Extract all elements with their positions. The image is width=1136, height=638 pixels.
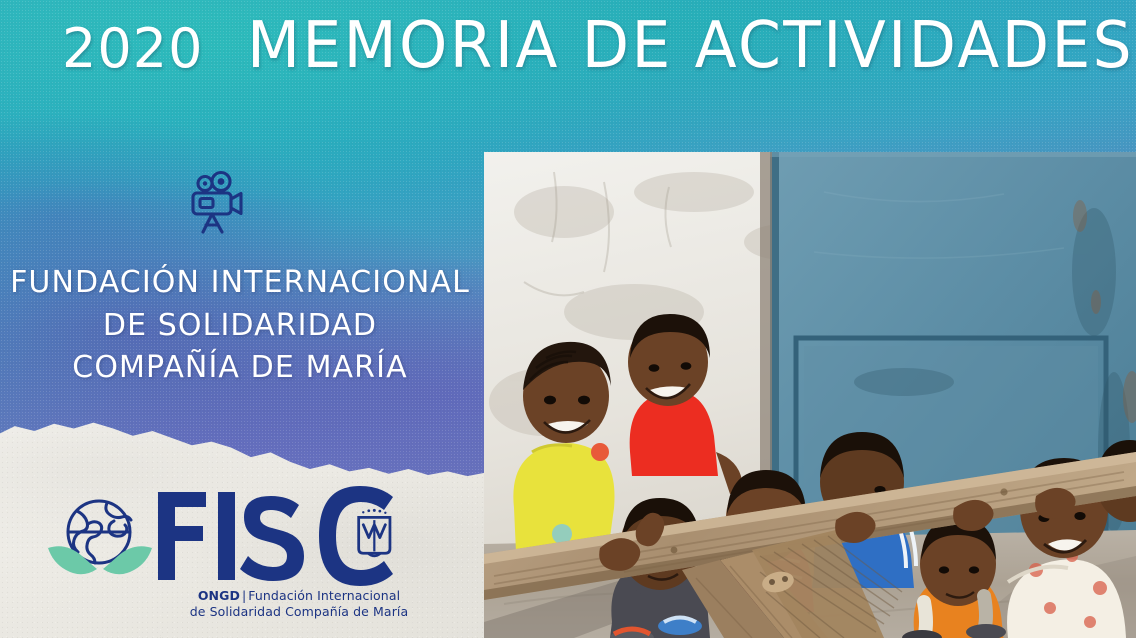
cover-photo [484, 152, 1136, 638]
fisc-logo: ONGD|Fundación Internacional de Solidari… [44, 484, 444, 632]
report-year: 2020 [62, 22, 203, 76]
cover-header: 2020 MEMORIA DE ACTIVIDADES [0, 14, 1100, 78]
page-title: MEMORIA DE ACTIVIDADES [247, 14, 1134, 78]
organisation-name-line-1: FUNDACIÓN INTERNACIONAL [0, 262, 480, 305]
logo-tagline-line-2: de Solidaridad Compañía de María [190, 604, 409, 619]
logo-tagline-row-2: de Solidaridad Compañía de María [154, 604, 444, 620]
logo-tagline: ONGD|Fundación Internacional de Solidari… [154, 588, 444, 620]
organisation-name: FUNDACIÓN INTERNACIONAL DE SOLIDARIDAD C… [0, 262, 480, 390]
logo-tagline-line-1: Fundación Internacional [248, 588, 400, 603]
organisation-name-line-3: COMPAÑÍA DE MARÍA [0, 347, 480, 390]
video-camera-icon [181, 169, 253, 241]
organisation-name-line-2: DE SOLIDARIDAD [0, 305, 480, 348]
fisc-wordmark [152, 484, 444, 588]
logo-tagline-row-1: ONGD|Fundación Internacional [154, 588, 444, 604]
logo-tagline-ongd: ONGD [198, 588, 240, 603]
globe-in-hands-icon [44, 488, 156, 592]
report-cover: 2020 MEMORIA DE ACTIVIDADES FUNDACIÓN IN… [0, 0, 1136, 638]
